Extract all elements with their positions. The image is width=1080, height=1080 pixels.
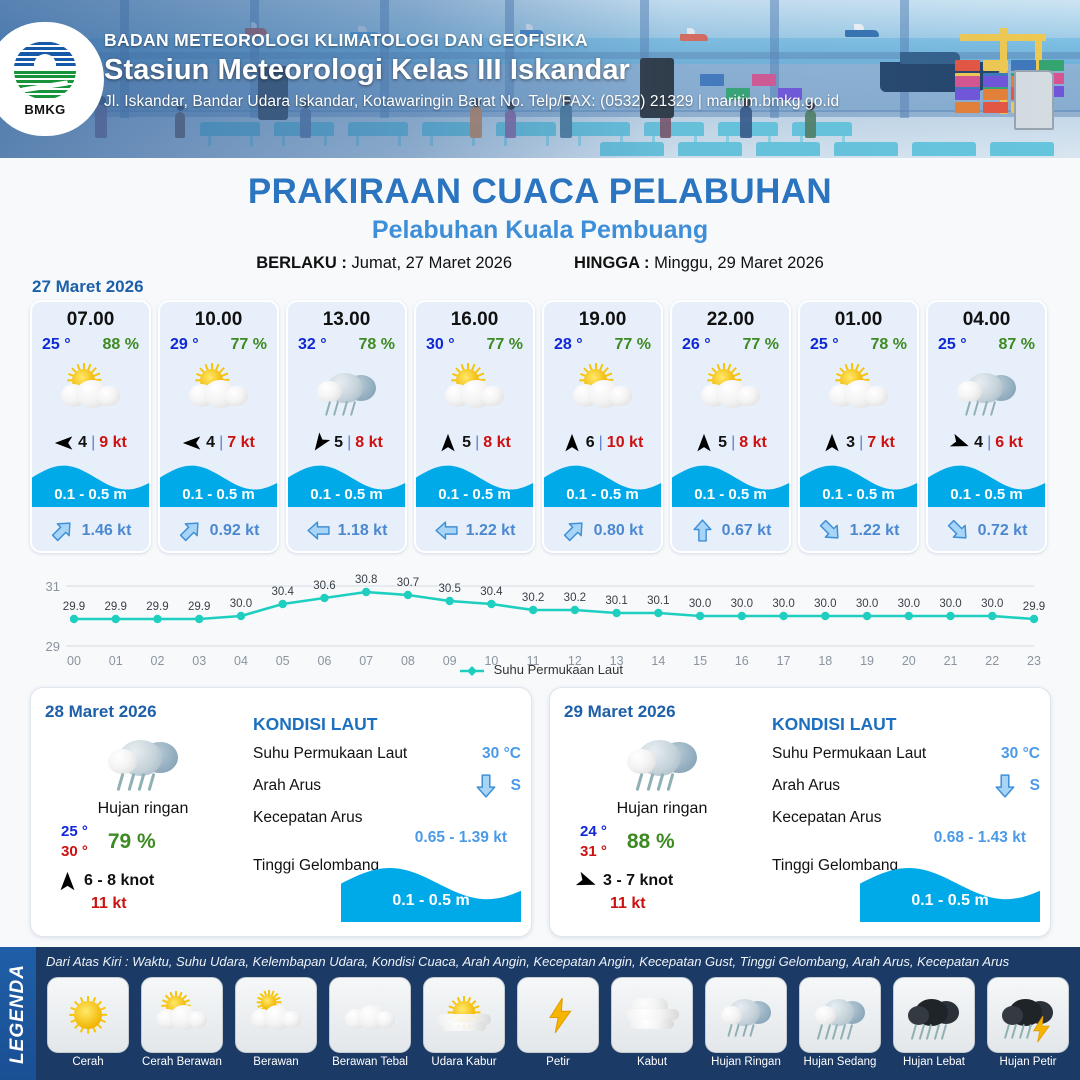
moderate-rain-icon [810, 991, 871, 1039]
light-rain-icon [621, 729, 704, 794]
current-direction-arrow-icon [172, 513, 207, 548]
card-current-row: 0.92 kt [160, 518, 277, 543]
svg-text:29.9: 29.9 [146, 601, 168, 613]
daily-left-column: 29 Maret 2026Hujan ringan24 °31 °88 %3 -… [564, 702, 760, 913]
partly-cloudy-icon [439, 363, 509, 418]
svg-text:30.0: 30.0 [689, 598, 711, 610]
daily-weather-icon-wrap [45, 722, 241, 800]
legend-item-tile [329, 977, 411, 1053]
card-current-row: 0.67 kt [672, 518, 789, 543]
card-current-row: 1.18 kt [288, 518, 405, 543]
daily-temp-humidity-row: 25 °30 °79 % [45, 822, 241, 863]
current-direction-row: Arah ArusS [772, 773, 1040, 799]
card-wind-speed: 7 kt [227, 434, 255, 452]
daily-temp-max: 30 ° [61, 842, 88, 862]
legend-item-tile [517, 977, 599, 1053]
daily-humidity: 88 % [627, 830, 675, 854]
card-wind-separator: | [347, 434, 351, 452]
current-direction-value-group: S [473, 773, 521, 799]
legend-section: LEGENDA Dari Atas Kiri : Waktu, Suhu Uda… [0, 947, 1080, 1080]
partly-cloudy-icon [55, 363, 125, 418]
card-humidity: 77 % [487, 336, 523, 354]
daily-humidity: 79 % [108, 830, 156, 854]
daily-wind-row: 3 - 7 knot [564, 871, 760, 892]
title-block: PRAKIRAAN CUACA PELABUHAN Pelabuhan Kual… [0, 172, 1080, 273]
daily-temp-humidity-row: 24 °31 °88 % [564, 822, 760, 863]
legend-item-tile [987, 977, 1069, 1053]
card-wind-speed: 9 kt [99, 434, 127, 452]
card-wind-separator: | [599, 434, 603, 452]
sst-line-chart: 312929.90029.90129.90229.90330.00430.405… [30, 560, 1052, 672]
forecast-card[interactable]: 07.0025 °88 %4|9 kt0.1 - 0.5 m1.46 kt [30, 300, 151, 553]
light-rain-icon [951, 363, 1021, 418]
legend-item[interactable]: Kabut [608, 977, 696, 1068]
svg-text:30.2: 30.2 [522, 592, 544, 604]
card-wind-separator: | [859, 434, 863, 452]
heavy-rain-icon [904, 991, 965, 1039]
current-direction-arrow-icon [940, 513, 975, 548]
card-humidity: 77 % [615, 336, 651, 354]
svg-text:30.0: 30.0 [981, 598, 1003, 610]
current-speed-row: Kecepatan Arus [772, 809, 1040, 827]
wind-direction-arrow-icon [562, 433, 582, 453]
lightning-icon [528, 991, 589, 1039]
card-current-row: 1.46 kt [32, 518, 149, 543]
card-current-speed: 0.67 kt [722, 522, 772, 540]
card-weather-icon-wrap [800, 357, 917, 425]
page-subtitle: Pelabuhan Kuala Pembuang [0, 216, 1080, 245]
card-time: 07.00 [32, 309, 149, 331]
card-time: 22.00 [672, 309, 789, 331]
wind-direction-arrow-icon [947, 430, 973, 456]
card-weather-icon-wrap [672, 357, 789, 425]
svg-text:30.4: 30.4 [272, 586, 295, 598]
card-humidity: 78 % [871, 336, 907, 354]
card-current-speed: 1.22 kt [850, 522, 900, 540]
card-wind-direction-value: 6 [586, 434, 595, 452]
current-speed-row: Kecepatan Arus [253, 809, 521, 827]
hourly-forecast-cards: 07.0025 °88 %4|9 kt0.1 - 0.5 m1.46 kt10.… [30, 300, 1052, 553]
current-speed-label: Kecepatan Arus [253, 809, 362, 827]
daily-panel[interactable]: 29 Maret 2026Hujan ringan24 °31 °88 %3 -… [549, 687, 1051, 937]
card-temperature: 25 ° [42, 336, 71, 354]
forecast-card[interactable]: 10.0029 °77 %4|7 kt0.1 - 0.5 m0.92 kt [158, 300, 279, 553]
daily-temp-column: 24 °31 ° [580, 822, 607, 863]
daily-left-column: 28 Maret 2026Hujan ringan25 °30 °79 %6 -… [45, 702, 241, 913]
card-time: 19.00 [544, 309, 661, 331]
current-direction-label: Arah Arus [772, 777, 840, 795]
daily-gust: 11 kt [564, 895, 760, 913]
current-direction-arrow-icon [473, 773, 499, 799]
wind-direction-arrow-icon [694, 433, 714, 453]
card-temperature: 29 ° [170, 336, 199, 354]
card-wave-height: 0.1 - 0.5 m [544, 486, 661, 503]
card-wave-height: 0.1 - 0.5 m [288, 486, 405, 503]
sst-row: Suhu Permukaan Laut30 °C [772, 745, 1040, 763]
card-wind-direction-value: 3 [846, 434, 855, 452]
fog-icon [622, 991, 683, 1039]
svg-text:30.0: 30.0 [772, 598, 794, 610]
daily-date: 29 Maret 2026 [564, 702, 760, 722]
berlaku-value: Jumat, 27 Maret 2026 [352, 254, 513, 272]
legend-item[interactable]: Cerah Berawan [138, 977, 226, 1068]
daily-temp-min: 24 ° [580, 822, 607, 842]
svg-text:30.6: 30.6 [313, 580, 335, 592]
station-address: Jl. Iskandar, Bandar Udara Iskandar, Kot… [104, 93, 839, 111]
sst-chart: 312929.90029.90129.90229.90330.00430.405… [30, 560, 1052, 672]
daily-summary-panels: 28 Maret 2026Hujan ringan25 °30 °79 %6 -… [30, 687, 1052, 937]
sst-label: Suhu Permukaan Laut [253, 745, 407, 763]
current-direction-arrow-icon [306, 518, 331, 543]
logo-blue-arc [14, 42, 76, 69]
card-temp-humidity-row: 26 °77 % [672, 336, 789, 354]
card-wind-separator: | [475, 434, 479, 452]
card-temperature: 25 ° [938, 336, 967, 354]
chart-legend-marker-icon [459, 665, 485, 677]
card-wind-speed: 6 kt [995, 434, 1023, 452]
card-weather-icon-wrap [544, 357, 661, 425]
legend-item[interactable]: Petir [514, 977, 602, 1068]
daily-temp-max: 31 ° [580, 842, 607, 862]
partly-cloudy-icon [183, 363, 253, 418]
legend-item-label: Berawan Tebal [332, 1056, 408, 1068]
card-current-speed: 0.92 kt [210, 522, 260, 540]
validity-row: BERLAKU : Jumat, 27 Maret 2026 HINGGA : … [0, 254, 1080, 273]
current-direction-arrow-icon [556, 513, 591, 548]
legend-side-label: LEGENDA [7, 964, 29, 1064]
daily-weather-icon-wrap [564, 722, 760, 800]
svg-text:30.4: 30.4 [480, 586, 503, 598]
card-current-speed: 1.46 kt [82, 522, 132, 540]
legend-item-tile [423, 977, 505, 1053]
svg-text:30.2: 30.2 [564, 592, 586, 604]
legend-item-label: Cerah Berawan [142, 1056, 222, 1068]
forecast-card[interactable]: 01.0025 °78 %3|7 kt0.1 - 0.5 m1.22 kt [798, 300, 919, 553]
sea-conditions-title: KONDISI LAUT [253, 714, 521, 735]
legend-body: Dari Atas Kiri : Waktu, Suhu Udara, Kele… [36, 947, 1080, 1080]
legend-item-label: Kabut [637, 1056, 667, 1068]
card-wind-row: 4|9 kt [32, 433, 149, 453]
partly-cloudy-icon [695, 363, 765, 418]
forecast-card[interactable]: 19.0028 °77 %6|10 kt0.1 - 0.5 m0.80 kt [542, 300, 663, 553]
svg-text:31: 31 [46, 579, 60, 594]
wind-direction-arrow-icon [438, 433, 458, 453]
hingga-label: HINGGA : [574, 254, 649, 272]
card-wave-height: 0.1 - 0.5 m [416, 486, 533, 503]
card-time: 13.00 [288, 309, 405, 331]
legend-item[interactable]: Cerah [44, 977, 132, 1068]
legend-item[interactable]: Hujan Petir [984, 977, 1072, 1068]
logo-green-arc [14, 71, 76, 100]
legend-item[interactable]: Berawan [232, 977, 320, 1068]
card-temp-humidity-row: 29 °77 % [160, 336, 277, 354]
card-wind-separator: | [731, 434, 735, 452]
bmkg-logo-mark [14, 42, 76, 100]
clear-sun-icon [58, 991, 119, 1039]
card-temp-humidity-row: 25 °78 % [800, 336, 917, 354]
card-wave-height: 0.1 - 0.5 m [160, 486, 277, 503]
legend-item-label: Petir [546, 1056, 570, 1068]
forecast-card[interactable]: 13.0032 °78 %5|8 kt0.1 - 0.5 m1.18 kt [286, 300, 407, 553]
card-wind-separator: | [91, 434, 95, 452]
current-direction-arrow-icon [812, 513, 847, 548]
legend-note: Dari Atas Kiri : Waktu, Suhu Udara, Kele… [36, 947, 1080, 969]
chart-legend: Suhu Permukaan Laut [30, 662, 1052, 677]
sst-value: 30 °C [1001, 745, 1040, 763]
sst-label: Suhu Permukaan Laut [772, 745, 926, 763]
current-speed-label: Kecepatan Arus [772, 809, 881, 827]
legend-side-bar: LEGENDA [0, 947, 36, 1080]
legend-item-tile [799, 977, 881, 1053]
card-temp-humidity-row: 32 °78 % [288, 336, 405, 354]
legend-item-label: Hujan Sedang [804, 1056, 877, 1068]
card-humidity: 77 % [743, 336, 779, 354]
card-current-row: 0.72 kt [928, 518, 1045, 543]
card-time: 04.00 [928, 309, 1045, 331]
daily-gust: 11 kt [45, 895, 241, 913]
partly-cloudy-icon [152, 991, 213, 1039]
card-temperature: 30 ° [426, 336, 455, 354]
card-temperature: 25 ° [810, 336, 839, 354]
svg-text:30.7: 30.7 [397, 577, 419, 589]
current-speed-value: 0.68 - 1.43 kt [772, 829, 1040, 847]
svg-text:30.8: 30.8 [355, 574, 377, 586]
chart-legend-label: Suhu Permukaan Laut [494, 662, 623, 677]
card-weather-icon-wrap [416, 357, 533, 425]
legend-item-tile [893, 977, 975, 1053]
legend-item[interactable]: Hujan Ringan [702, 977, 790, 1068]
card-wind-separator: | [987, 434, 991, 452]
berlaku-group: BERLAKU : Jumat, 27 Maret 2026 [256, 254, 512, 273]
card-temp-humidity-row: 25 °87 % [928, 336, 1045, 354]
svg-text:30.1: 30.1 [647, 595, 669, 607]
card-wind-speed: 10 kt [607, 434, 643, 452]
daily-wind-range: 6 - 8 knot [84, 872, 154, 890]
wind-direction-arrow-icon [182, 433, 202, 453]
card-humidity: 87 % [999, 336, 1035, 354]
partly-cloudy-icon [567, 363, 637, 418]
card-wind-row: 5|8 kt [288, 433, 405, 453]
card-wind-direction-value: 5 [462, 434, 471, 452]
legend-item-tile [141, 977, 223, 1053]
svg-text:30.1: 30.1 [605, 595, 627, 607]
current-direction-label: Arah Arus [253, 777, 321, 795]
svg-text:29.9: 29.9 [63, 601, 85, 613]
forecast-card[interactable]: 22.0026 °77 %5|8 kt0.1 - 0.5 m0.67 kt [670, 300, 791, 553]
legend-item-tile [611, 977, 693, 1053]
card-wind-direction-value: 4 [206, 434, 215, 452]
daily-wave-value: 0.1 - 0.5 m [860, 892, 1040, 910]
card-wind-row: 6|10 kt [544, 433, 661, 453]
current-direction-arrow-icon [992, 773, 1018, 799]
card-humidity: 77 % [231, 336, 267, 354]
card-time: 10.00 [160, 309, 277, 331]
legend-item-label: Hujan Ringan [711, 1056, 781, 1068]
card-wind-row: 3|7 kt [800, 433, 917, 453]
daily-sea-conditions: KONDISI LAUTSuhu Permukaan Laut30 °CArah… [253, 714, 521, 875]
legend-item-tile [235, 977, 317, 1053]
current-direction-arrow-icon [690, 518, 715, 543]
svg-text:29.9: 29.9 [1023, 601, 1045, 613]
page-header: BMKG BADAN METEOROLOGI KLIMATOLOGI DAN G… [0, 0, 1080, 158]
card-current-row: 0.80 kt [544, 518, 661, 543]
daily-date: 28 Maret 2026 [45, 702, 241, 722]
current-direction-value: S [1030, 777, 1040, 795]
svg-text:30.0: 30.0 [939, 598, 961, 610]
card-wind-separator: | [219, 434, 223, 452]
card-weather-icon-wrap [32, 357, 149, 425]
daily-sea-conditions: KONDISI LAUTSuhu Permukaan Laut30 °CArah… [772, 714, 1040, 875]
card-temperature: 26 ° [682, 336, 711, 354]
card-wave-height: 0.1 - 0.5 m [928, 486, 1045, 503]
header-text-block: BADAN METEOROLOGI KLIMATOLOGI DAN GEOFIS… [104, 30, 839, 111]
forecast-card[interactable]: 16.0030 °77 %5|8 kt0.1 - 0.5 m1.22 kt [414, 300, 535, 553]
svg-text:30.0: 30.0 [731, 598, 753, 610]
wind-direction-arrow-icon [57, 871, 78, 892]
legend-item-tile [47, 977, 129, 1053]
svg-text:29: 29 [46, 639, 60, 654]
card-temperature: 32 ° [298, 336, 327, 354]
thunderstorm-icon [998, 991, 1059, 1039]
daily-wave-value: 0.1 - 0.5 m [341, 892, 521, 910]
haze-icon [434, 991, 495, 1039]
svg-text:29.9: 29.9 [105, 601, 127, 613]
card-temp-humidity-row: 25 °88 % [32, 336, 149, 354]
svg-text:30.0: 30.0 [814, 598, 836, 610]
card-weather-icon-wrap [160, 357, 277, 425]
legend-item-label: Cerah [72, 1056, 103, 1068]
weather-forecast-infographic: BMKG BADAN METEOROLOGI KLIMATOLOGI DAN G… [0, 0, 1080, 1080]
sst-value: 30 °C [482, 745, 521, 763]
bmkg-logo-text: BMKG [24, 102, 65, 117]
card-humidity: 78 % [359, 336, 395, 354]
daily-condition: Hujan ringan [45, 800, 241, 818]
hingga-value: Minggu, 29 Maret 2026 [654, 254, 824, 272]
card-wind-speed: 7 kt [867, 434, 895, 452]
card-time: 16.00 [416, 309, 533, 331]
legend-item-label: Hujan Petir [1000, 1056, 1057, 1068]
legend-item-label: Udara Kabur [431, 1056, 496, 1068]
daily-panel[interactable]: 28 Maret 2026Hujan ringan25 °30 °79 %6 -… [30, 687, 532, 937]
legend-item-tile [705, 977, 787, 1053]
svg-text:30.5: 30.5 [438, 583, 460, 595]
card-wind-row: 5|8 kt [416, 433, 533, 453]
daily-wind-row: 6 - 8 knot [45, 871, 241, 892]
daily-condition: Hujan ringan [564, 800, 760, 818]
card-weather-icon-wrap [288, 357, 405, 425]
daily-temp-min: 25 ° [61, 822, 88, 842]
station-name: Stasiun Meteorologi Kelas III Iskandar [104, 54, 839, 87]
wind-direction-arrow-icon [54, 433, 74, 453]
svg-text:30.0: 30.0 [898, 598, 920, 610]
card-wind-row: 5|8 kt [672, 433, 789, 453]
daily-wind-range: 3 - 7 knot [603, 872, 673, 890]
card-current-speed: 1.22 kt [466, 522, 516, 540]
hingga-group: HINGGA : Minggu, 29 Maret 2026 [574, 254, 824, 273]
card-wave-height: 0.1 - 0.5 m [672, 486, 789, 503]
card-humidity: 88 % [103, 336, 139, 354]
legend-items: CerahCerah BerawanBerawanBerawan TebalUd… [44, 977, 1074, 1068]
daily-temp-column: 25 °30 ° [61, 822, 88, 863]
card-wind-row: 4|7 kt [160, 433, 277, 453]
card-current-row: 1.22 kt [800, 518, 917, 543]
card-wind-row: 4|6 kt [928, 433, 1045, 453]
legend-item[interactable]: Udara Kabur [420, 977, 508, 1068]
wind-direction-arrow-icon [573, 868, 600, 895]
legend-item-label: Berawan [253, 1056, 298, 1068]
current-direction-row: Arah ArusS [253, 773, 521, 799]
current-direction-value: S [511, 777, 521, 795]
berlaku-label: BERLAKU : [256, 254, 347, 272]
card-wind-direction-value: 4 [974, 434, 983, 452]
card-temp-humidity-row: 28 °77 % [544, 336, 661, 354]
forecast-card[interactable]: 04.0025 °87 %4|6 kt0.1 - 0.5 m0.72 kt [926, 300, 1047, 553]
card-current-row: 1.22 kt [416, 518, 533, 543]
forecast-date-label: 27 Maret 2026 [32, 277, 144, 297]
card-wind-speed: 8 kt [483, 434, 511, 452]
legend-item-label: Hujan Lebat [903, 1056, 965, 1068]
light-rain-icon [716, 991, 777, 1039]
card-wind-speed: 8 kt [355, 434, 383, 452]
light-rain-icon [311, 363, 381, 418]
legend-item[interactable]: Berawan Tebal [326, 977, 414, 1068]
card-temp-humidity-row: 30 °77 % [416, 336, 533, 354]
current-direction-value-group: S [992, 773, 1040, 799]
card-current-speed: 1.18 kt [338, 522, 388, 540]
card-wind-direction-value: 5 [718, 434, 727, 452]
svg-text:30.0: 30.0 [856, 598, 878, 610]
current-direction-arrow-icon [44, 513, 79, 548]
sst-row: Suhu Permukaan Laut30 °C [253, 745, 521, 763]
legend-item[interactable]: Hujan Sedang [796, 977, 884, 1068]
card-wind-speed: 8 kt [739, 434, 767, 452]
current-speed-value: 0.65 - 1.39 kt [253, 829, 521, 847]
card-current-speed: 0.72 kt [978, 522, 1028, 540]
sea-conditions-title: KONDISI LAUT [772, 714, 1040, 735]
card-weather-icon-wrap [928, 357, 1045, 425]
wind-direction-arrow-icon [822, 433, 842, 453]
card-wave-height: 0.1 - 0.5 m [32, 486, 149, 503]
card-temperature: 28 ° [554, 336, 583, 354]
cloudy-icon [246, 991, 307, 1039]
card-wind-direction-value: 5 [334, 434, 343, 452]
legend-item[interactable]: Hujan Lebat [890, 977, 978, 1068]
partly-cloudy-icon [823, 363, 893, 418]
svg-text:29.9: 29.9 [188, 601, 210, 613]
page-title: PRAKIRAAN CUACA PELABUHAN [0, 172, 1080, 212]
overcast-icon [340, 991, 401, 1039]
agency-name: BADAN METEOROLOGI KLIMATOLOGI DAN GEOFIS… [104, 30, 839, 51]
svg-text:30.0: 30.0 [230, 598, 252, 610]
card-wave-height: 0.1 - 0.5 m [800, 486, 917, 503]
card-time: 01.00 [800, 309, 917, 331]
light-rain-icon [102, 729, 185, 794]
wind-direction-arrow-icon [306, 429, 334, 457]
current-direction-arrow-icon [434, 518, 459, 543]
card-wind-direction-value: 4 [78, 434, 87, 452]
card-current-speed: 0.80 kt [594, 522, 644, 540]
